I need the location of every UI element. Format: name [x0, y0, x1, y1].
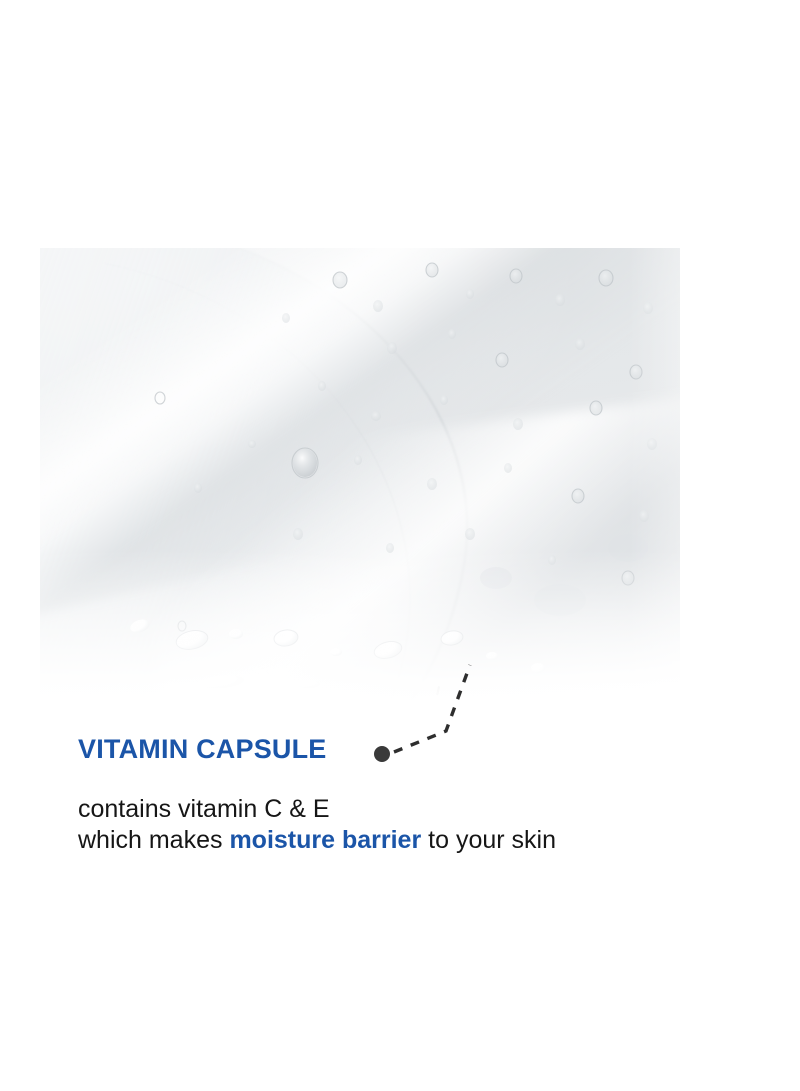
caption-heading: VITAMIN CAPSULE — [78, 732, 728, 766]
caption-line-2: which makes moisture barrier to your ski… — [78, 825, 728, 856]
photo-bottom-fade — [40, 550, 680, 706]
caption-highlight: moisture barrier — [229, 826, 421, 854]
caption-body: contains vitamin C & E which makes moist… — [78, 794, 728, 856]
caption-line-1: contains vitamin C & E — [78, 794, 728, 825]
caption-line-2-prefix: which makes — [78, 826, 229, 854]
gel-texture-photo — [40, 248, 680, 706]
large-bubble — [293, 449, 317, 477]
caption-block: VITAMIN CAPSULE contains vitamin C & E w… — [78, 732, 728, 856]
caption-line-2-suffix: to your skin — [421, 826, 556, 854]
